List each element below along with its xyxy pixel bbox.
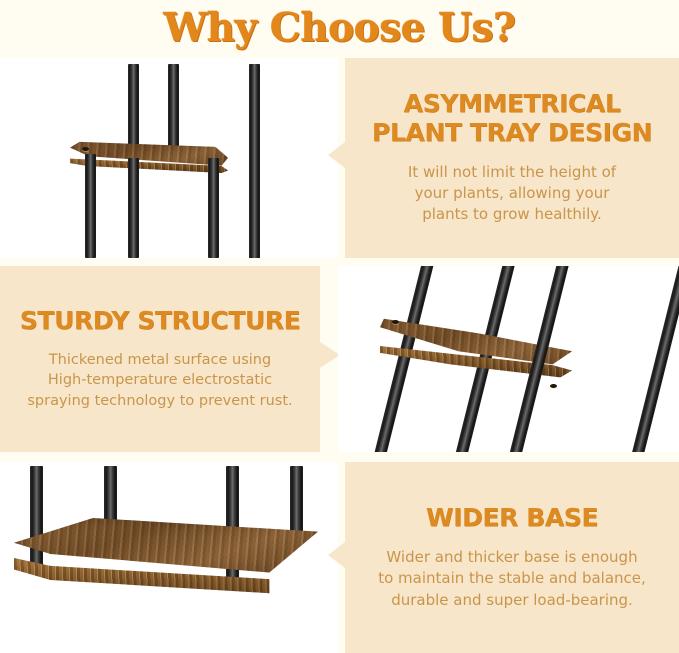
feature-heading: STURDY STRUCTURE — [20, 307, 301, 336]
metal-pole-icon — [249, 64, 260, 258]
feature-body: It will not limit the height of your pla… — [408, 162, 616, 226]
feature-heading-line: STURDY STRUCTURE — [20, 306, 301, 335]
page-title-text: Why Choose Us? — [164, 9, 516, 48]
plant-tray-illustration — [0, 58, 338, 258]
screw-hole-icon — [82, 147, 89, 151]
metal-pole-icon — [168, 64, 179, 150]
feature-body-line: It will not limit the height of — [408, 163, 616, 181]
infographic-page: Why Choose Us? ASYMMETRICAL PLANT TRAY — [0, 0, 679, 653]
metal-pole-icon — [503, 266, 573, 452]
page-title: Why Choose Us? — [0, 0, 679, 56]
feature-heading-line: ASYMMETRICAL — [404, 89, 621, 118]
metal-structure-photo — [338, 266, 679, 452]
metal-pole-icon — [625, 266, 679, 452]
feature-body-line: Thickened metal surface using — [49, 352, 271, 368]
feature-body-line: durable and super load-bearing. — [391, 591, 633, 609]
callout-arrow-icon — [328, 142, 345, 168]
feature-body: Thickened metal surface using High-tempe… — [27, 350, 292, 412]
screw-hole-icon — [550, 384, 557, 388]
feature-body-line: to maintain the stable and balance, — [378, 569, 646, 587]
feature-body: Wider and thicker base is enough to main… — [378, 547, 646, 611]
feature-panel-wider-base: WIDER BASE Wider and thicker base is eno… — [345, 462, 679, 653]
screw-hole-icon — [392, 320, 399, 324]
feature-body-line: High-temperature electrostatic — [48, 372, 272, 388]
feature-row-sturdy-structure: STURDY STRUCTURE Thickened metal surface… — [0, 266, 679, 452]
feature-body-line: Wider and thicker base is enough — [386, 548, 637, 566]
callout-arrow-icon — [320, 342, 340, 368]
callout-arrow-icon — [328, 542, 345, 568]
feature-row-asymmetrical-plant-tray-design: ASYMMETRICAL PLANT TRAY DESIGN It will n… — [0, 58, 679, 258]
metal-pole-icon — [85, 154, 96, 258]
wider-base-illustration — [0, 462, 338, 653]
feature-panel-asymmetrical-plant-tray-design: ASYMMETRICAL PLANT TRAY DESIGN It will n… — [345, 58, 679, 258]
feature-heading: WIDER BASE — [426, 504, 598, 533]
feature-heading-line: PLANT TRAY DESIGN — [372, 118, 652, 147]
metal-pole-icon — [104, 466, 117, 522]
metal-structure-illustration — [338, 266, 679, 452]
metal-pole-icon — [128, 158, 139, 258]
metal-pole-icon — [208, 158, 219, 258]
feature-panel-sturdy-structure: STURDY STRUCTURE Thickened metal surface… — [0, 266, 320, 452]
plant-tray-photo — [0, 58, 338, 258]
wider-base-photo — [0, 462, 338, 653]
feature-heading-line: WIDER BASE — [426, 503, 598, 532]
feature-body-line: your plants, allowing your — [415, 184, 610, 202]
feature-body-line: plants to grow healthily. — [422, 205, 602, 223]
feature-heading: ASYMMETRICAL PLANT TRAY DESIGN — [372, 90, 652, 148]
feature-body-line: spraying technology to prevent rust. — [27, 393, 292, 409]
feature-row-wider-base: WIDER BASE Wider and thicker base is eno… — [0, 462, 679, 653]
